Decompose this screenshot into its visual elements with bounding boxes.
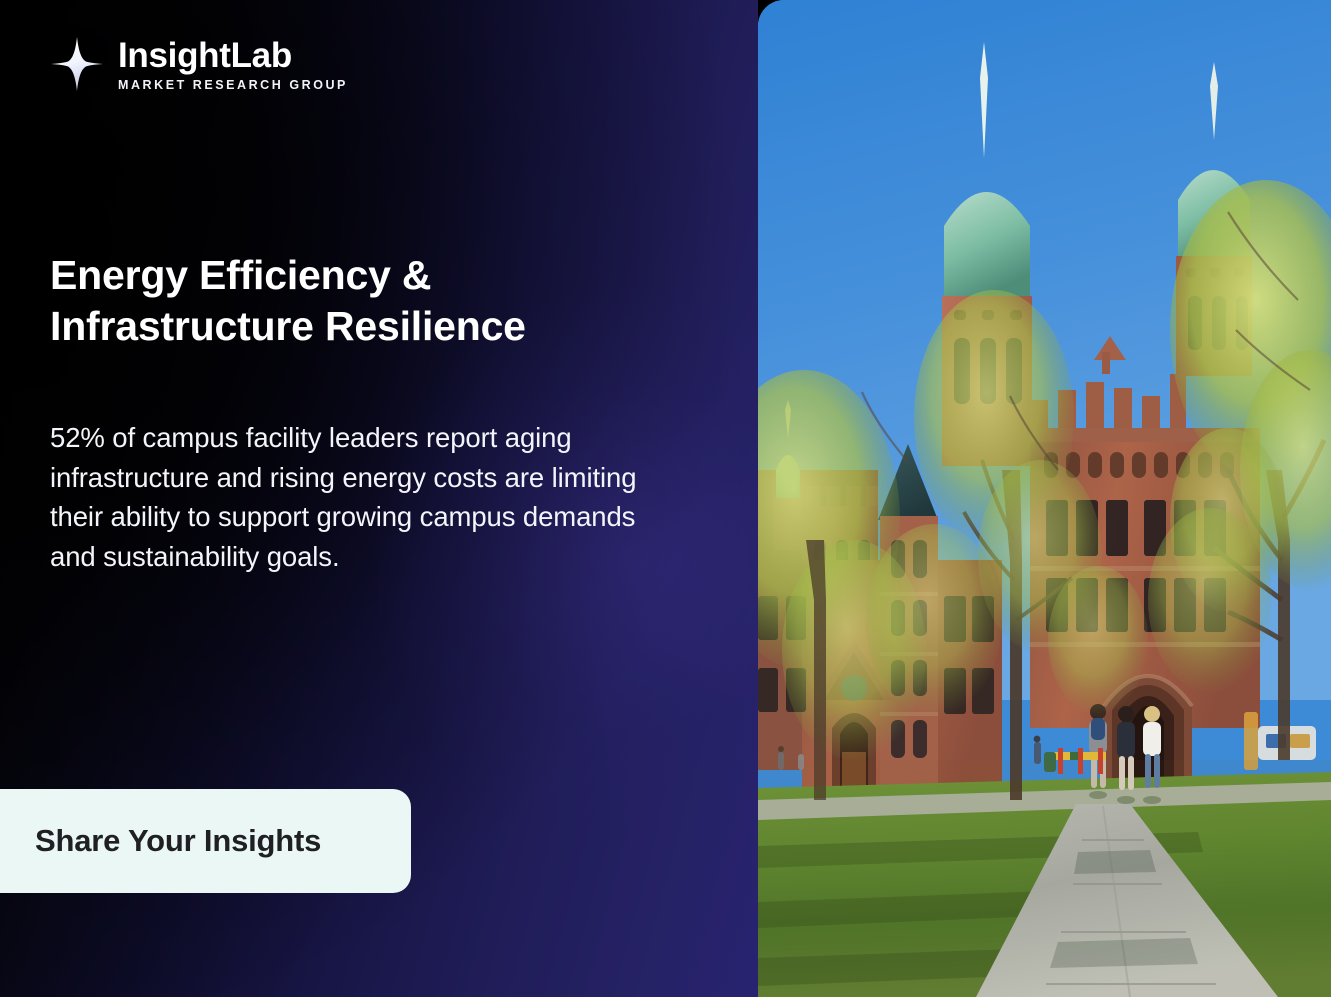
cta-label: Share Your Insights [35, 823, 321, 859]
body-copy: 52% of campus facility leaders report ag… [50, 418, 675, 576]
brand-wordmark: InsightLab [118, 38, 348, 74]
brand-tagline: MARKET RESEARCH GROUP [118, 78, 348, 92]
brand-logo-text: InsightLab MARKET RESEARCH GROUP [118, 36, 348, 92]
share-your-insights-button[interactable]: Share Your Insights [0, 789, 411, 893]
brand-logo[interactable]: InsightLab MARKET RESEARCH GROUP [50, 36, 348, 92]
left-content-panel: InsightLab MARKET RESEARCH GROUP Energy … [0, 0, 758, 997]
campus-building-photo [758, 0, 1331, 997]
campus-photo-panel [758, 0, 1331, 997]
page-title: Energy Efficiency & Infrastructure Resil… [50, 250, 650, 352]
social-card: InsightLab MARKET RESEARCH GROUP Energy … [0, 0, 1331, 997]
four-point-sparkle-icon [50, 36, 104, 92]
